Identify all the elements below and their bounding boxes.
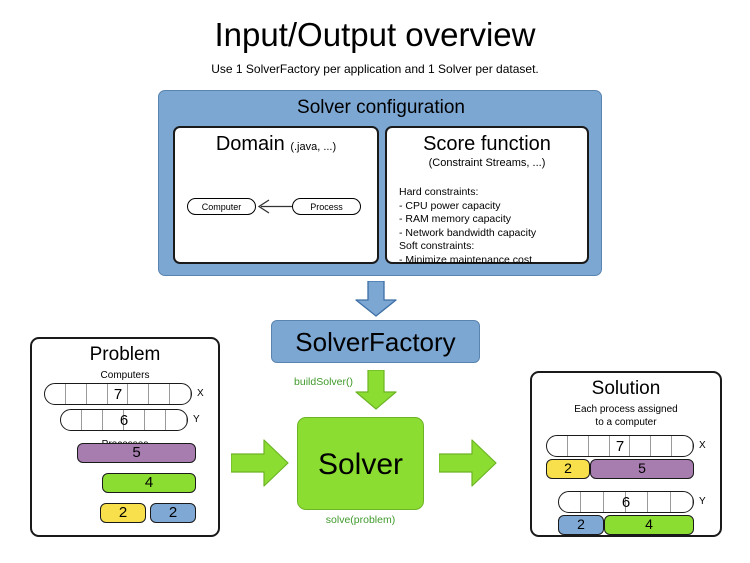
build-solver-label: buildSolver() <box>283 376 353 388</box>
problem-computer-row: 6 Y <box>32 405 218 429</box>
process-list: 5 4 2 2 <box>32 443 218 535</box>
process-chip: 2 <box>150 503 196 523</box>
solution-title: Solution <box>532 378 720 400</box>
computer-capacity-bar: 6 <box>558 491 694 513</box>
process-chip: 4 <box>102 473 196 493</box>
uml-relation-arrow-icon <box>175 188 381 228</box>
solution-assignment-row: 2 4 <box>532 515 720 537</box>
arrow-right-problem-to-solver-icon <box>231 437 289 489</box>
arrow-down-build-solver-icon <box>355 370 397 410</box>
computer-name-label: X <box>197 383 204 405</box>
solver-label: Solver <box>298 418 423 511</box>
computer-name-label: X <box>699 435 706 457</box>
solution-computer-row: 7 X <box>532 435 720 459</box>
page-title: Input/Output overview <box>0 16 750 54</box>
problem-computer-row: 7 X <box>32 381 218 405</box>
assigned-process-chip: 4 <box>604 515 694 535</box>
assigned-process-chip: 2 <box>546 459 590 479</box>
process-chip: 2 <box>100 503 146 523</box>
solution-computer-row: 6 Y <box>532 491 720 515</box>
domain-title-text: Domain <box>216 133 285 155</box>
solver-factory-label: SolverFactory <box>272 321 479 364</box>
computer-capacity-bar: 7 <box>44 383 192 405</box>
computer-capacity-value: 6 <box>61 410 187 431</box>
constraint-line: - RAM memory capacity <box>399 213 585 227</box>
assigned-process-chip: 5 <box>590 459 694 479</box>
domain-card: Domain (.java, ...) Computer Process <box>173 126 379 264</box>
domain-card-title: Domain (.java, ...) <box>175 133 377 156</box>
problem-card: Problem Computers 7 X 6 Y Processes <box>30 337 220 537</box>
constraint-line: Soft constraints: <box>399 240 585 254</box>
computer-name-label: Y <box>699 491 706 513</box>
solver-factory-box: SolverFactory <box>271 320 480 363</box>
solver-box: Solver <box>297 417 424 510</box>
constraint-line: - Network bandwidth capacity <box>399 227 585 241</box>
solution-note-line: to a computer <box>532 417 720 430</box>
constraint-list: Hard constraints: - CPU power capacity -… <box>399 186 585 268</box>
arrow-right-solver-to-solution-icon <box>439 437 497 489</box>
score-function-subtitle: (Constraint Streams, ...) <box>387 157 587 169</box>
process-chip: 5 <box>77 443 196 463</box>
constraint-line: - CPU power capacity <box>399 200 585 214</box>
problem-title: Problem <box>32 344 218 366</box>
solve-problem-label: solve(problem) <box>297 514 424 526</box>
computer-capacity-value: 7 <box>45 384 191 405</box>
solver-configuration-title: Solver configuration <box>159 97 603 119</box>
solution-assignment-row: 2 5 <box>532 459 720 481</box>
computer-name-label: Y <box>193 409 200 431</box>
computer-capacity-value: 7 <box>547 436 693 457</box>
constraint-line: Hard constraints: <box>399 186 585 200</box>
computer-capacity-bar: 6 <box>60 409 188 431</box>
computers-group-label: Computers <box>32 370 218 381</box>
arrow-down-config-to-factory-icon <box>355 281 397 317</box>
domain-uml-diagram: Computer Process <box>175 188 377 228</box>
solution-card: Solution Each process assigned to a comp… <box>530 371 722 537</box>
solution-note: Each process assigned to a computer <box>532 404 720 429</box>
computer-capacity-bar: 7 <box>546 435 694 457</box>
score-function-title: Score function <box>387 133 587 156</box>
assigned-process-chip: 2 <box>558 515 604 535</box>
page-subtitle: Use 1 SolverFactory per application and … <box>0 62 750 76</box>
domain-title-suffix: (.java, ...) <box>290 141 336 153</box>
solver-configuration-panel: Solver configuration Domain (.java, ...)… <box>158 90 602 276</box>
computer-capacity-value: 6 <box>559 492 693 513</box>
score-function-card: Score function (Constraint Streams, ...)… <box>385 126 589 264</box>
constraint-line: - Minimize maintenance cost <box>399 254 585 268</box>
solution-note-line: Each process assigned <box>532 404 720 417</box>
